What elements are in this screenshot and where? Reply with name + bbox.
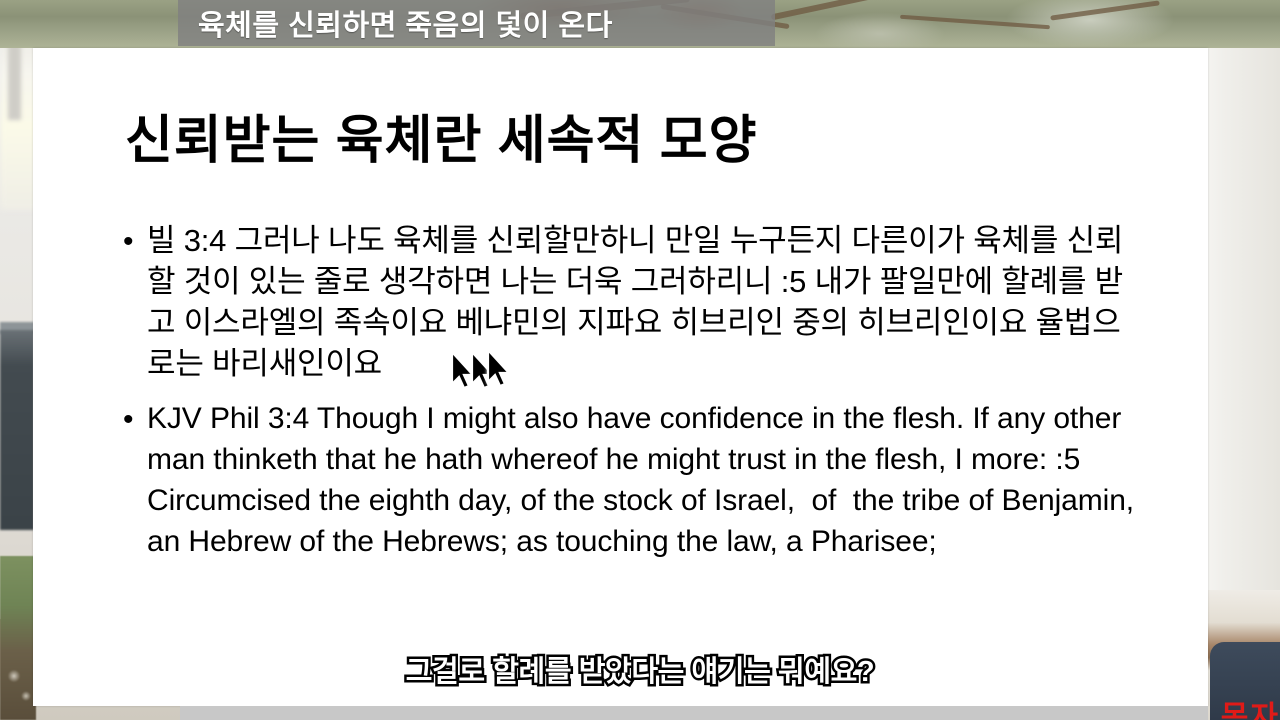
banner-title: 육체를 신뢰하면 죽음의 덫이 온다 — [178, 2, 613, 44]
screen: 육체를 신뢰하면 죽음의 덫이 온다 신뢰받는 육체란 세속적 모양 • 빌 3… — [0, 0, 1280, 720]
slide-bullet-list: • 빌 3:4 그러나 나도 육체를 신뢰할만하니 만일 누구든지 다른이가 육… — [115, 220, 1145, 576]
bullet-text-english: KJV Phil 3:4 Though I might also have co… — [147, 398, 1145, 562]
ground-foliage — [0, 556, 36, 720]
monitor-screen — [0, 330, 34, 530]
top-banner: 육체를 신뢰하면 죽음의 덫이 온다 — [0, 0, 1280, 48]
banner-branch-3 — [771, 0, 890, 20]
bullet-text-korean: 빌 3:4 그러나 나도 육체를 신뢰할만하니 만일 누구든지 다른이가 육체를… — [147, 220, 1145, 384]
bullet-marker-icon: • — [123, 220, 134, 264]
slide-title: 신뢰받는 육체란 세속적 모양 — [125, 98, 757, 173]
red-text-occluder — [872, 688, 1208, 706]
list-item: • KJV Phil 3:4 Though I might also have … — [115, 398, 1145, 562]
bullet-marker-icon: • — [123, 398, 134, 442]
banner-title-box: 육체를 신뢰하면 죽음의 덫이 온다 — [178, 0, 775, 46]
list-item: • 빌 3:4 그러나 나도 육체를 신뢰할만하니 만일 누구든지 다른이가 육… — [115, 220, 1145, 384]
video-caption: 그걸로 할례를 받았다는 얘기는 뭐예요? — [0, 648, 1280, 690]
banner-branch-5 — [1050, 0, 1160, 20]
banner-branch-4 — [900, 15, 1050, 29]
presentation-slide: 신뢰받는 육체란 세속적 모양 • 빌 3:4 그러나 나도 육체를 신뢰할만하… — [33, 48, 1208, 706]
